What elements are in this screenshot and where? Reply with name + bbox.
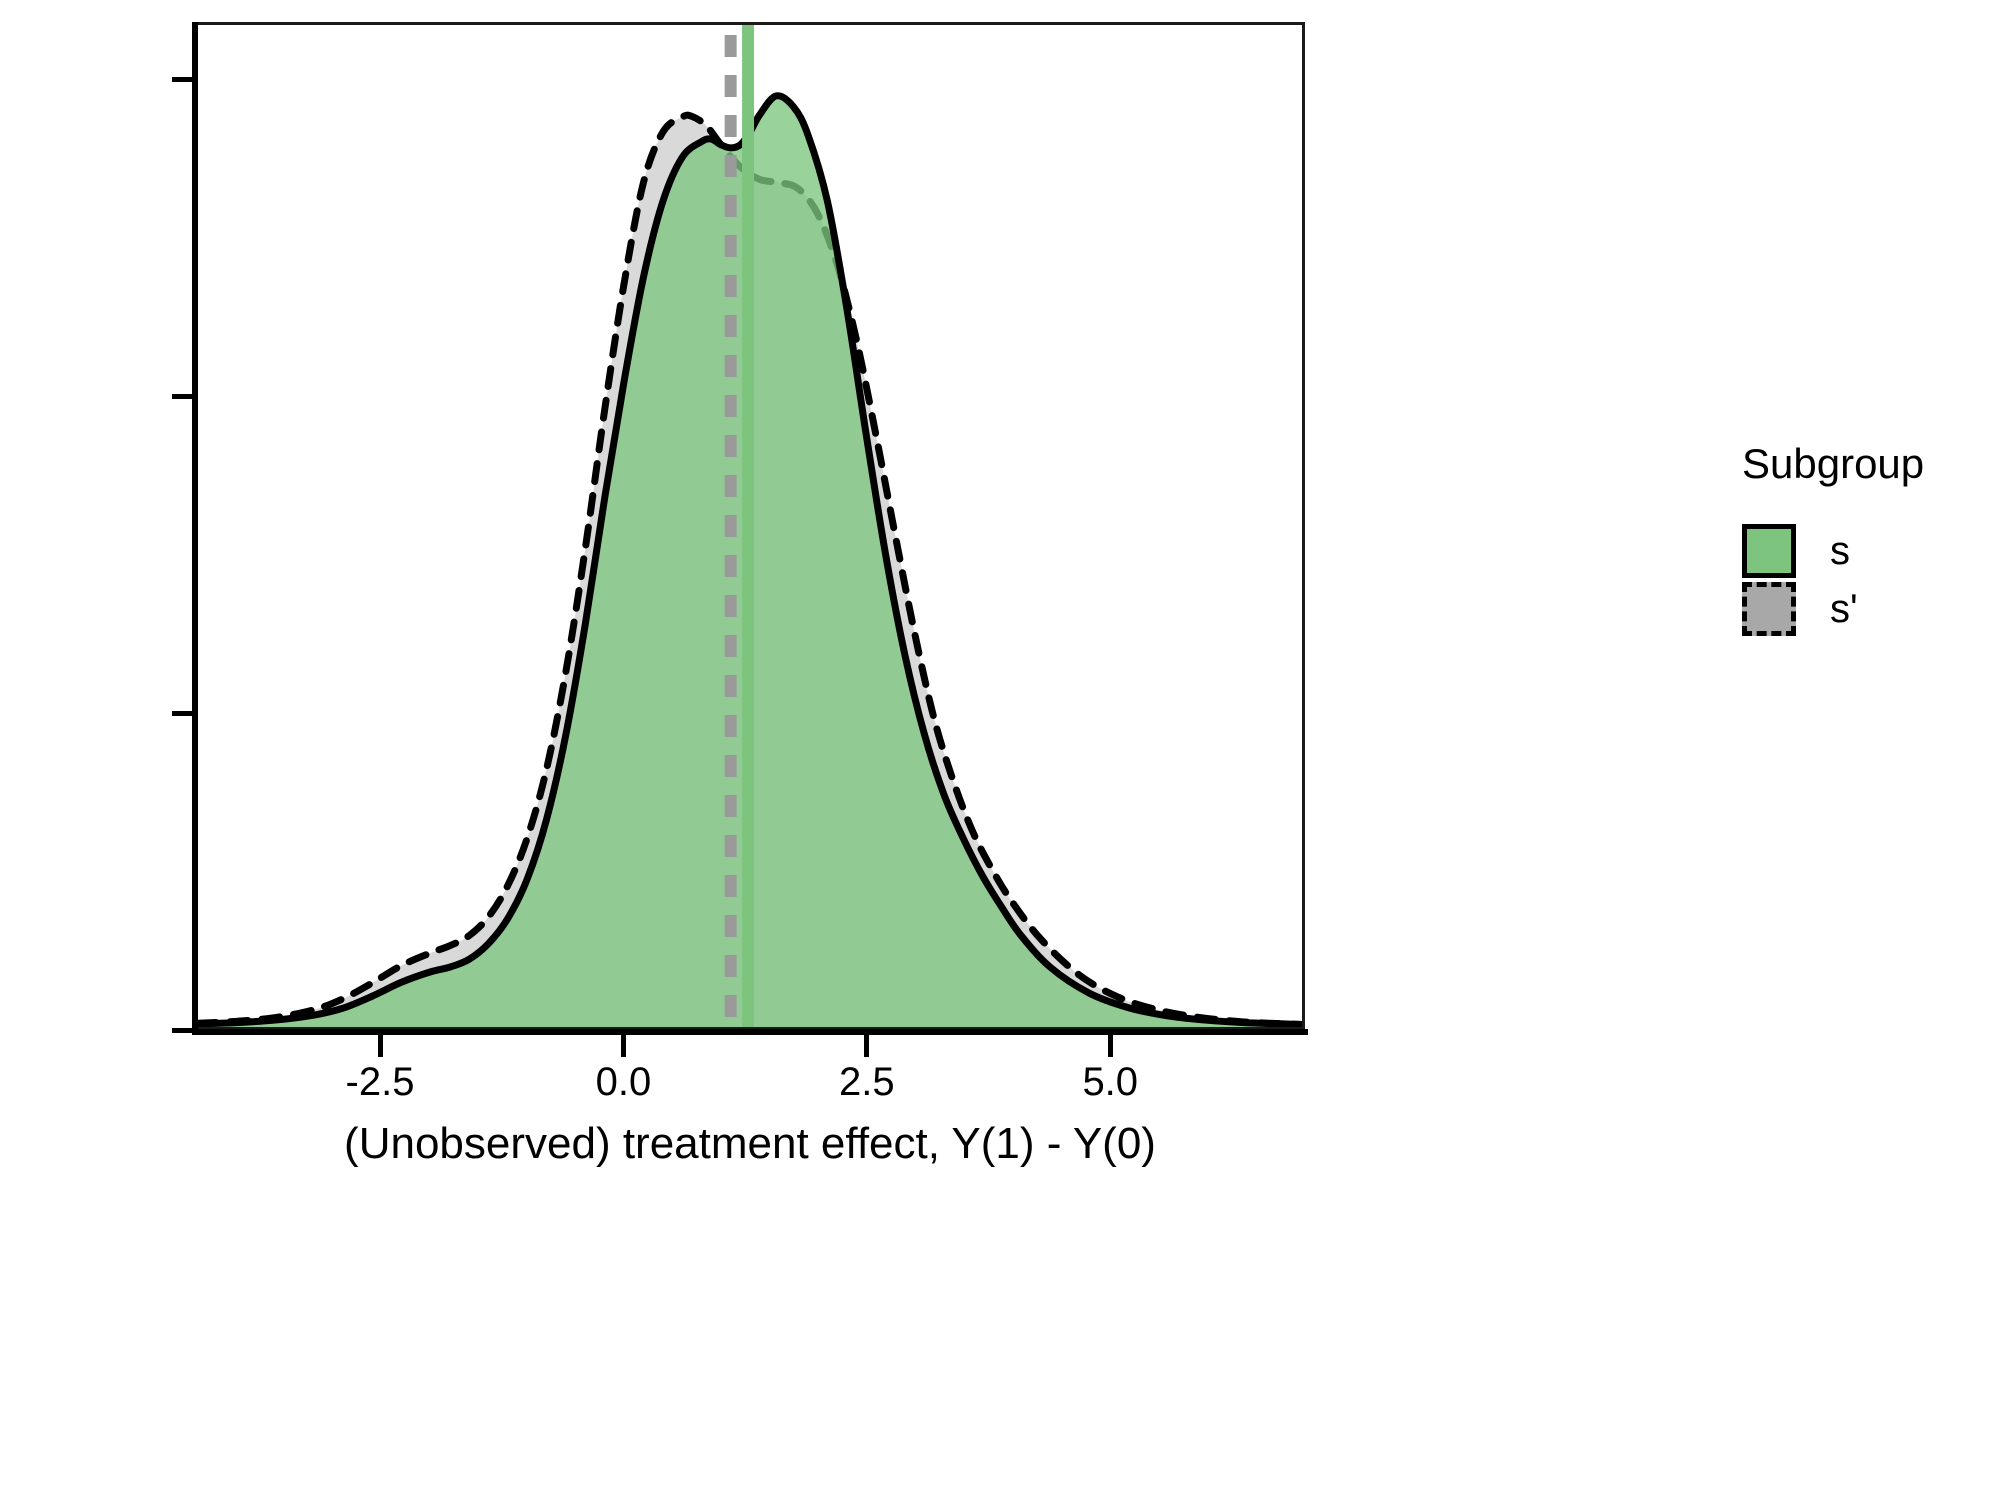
y-axis-line: [192, 22, 198, 1032]
legend-item-sprime[interactable]: s': [1742, 580, 1992, 638]
y-tick-mark: [172, 77, 194, 82]
x-tick-mark: [378, 1035, 383, 1057]
y-tick-mark: [172, 1028, 194, 1033]
legend-item-s[interactable]: s: [1742, 522, 1992, 580]
x-tick-label: 2.5: [787, 1062, 947, 1102]
x-tick-mark: [864, 1035, 869, 1057]
legend-key-s-icon: [1742, 524, 1796, 578]
x-axis-title: (Unobserved) treatment effect, Y(1) - Y(…: [195, 1118, 1305, 1170]
plot-panel: [195, 22, 1305, 1030]
x-tick-label: -2.5: [300, 1062, 460, 1102]
x-axis-line: [192, 1029, 1308, 1035]
legend-title: Subgroup: [1742, 440, 1992, 488]
x-tick-label: 5.0: [1030, 1062, 1190, 1102]
y-tick-mark: [172, 394, 194, 399]
x-tick-mark: [1108, 1035, 1113, 1057]
density-plot-svg: [198, 25, 1302, 1027]
plot-area: Density 0.00.10.20.3 -2.50.02.55.0 (Unob…: [0, 0, 1640, 1500]
legend-label-sprime: s': [1830, 589, 1858, 629]
legend: Subgroup s s': [1742, 440, 1992, 638]
chart-root: Density 0.00.10.20.3 -2.50.02.55.0 (Unob…: [0, 0, 2000, 1500]
y-tick-mark: [172, 711, 194, 716]
x-tick-mark: [621, 1035, 626, 1057]
x-tick-label: 0.0: [543, 1062, 703, 1102]
legend-label-s: s: [1830, 531, 1850, 571]
legend-key-sprime-icon: [1742, 582, 1796, 636]
